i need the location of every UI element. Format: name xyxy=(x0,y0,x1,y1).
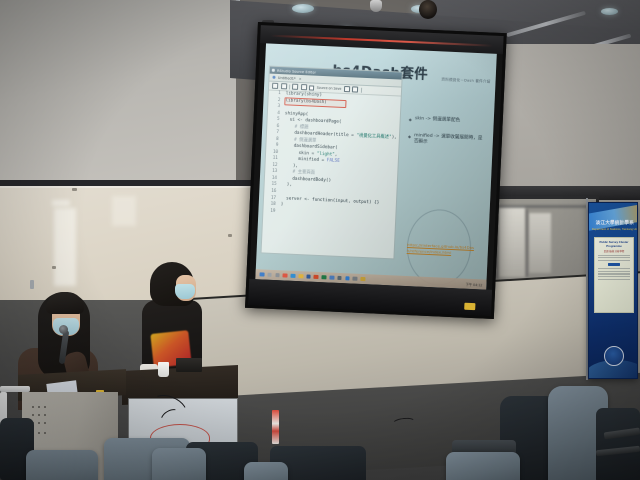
window-reflection xyxy=(499,207,525,277)
folder-icon[interactable] xyxy=(298,274,303,279)
window-frame-reflection xyxy=(526,209,528,277)
podium-vent-hole xyxy=(32,414,34,416)
podium-vent-hole xyxy=(44,432,46,434)
code-editor[interactable]: 12345678910111213141516171819 library(sh… xyxy=(262,89,401,259)
university-seal-icon xyxy=(604,346,624,366)
banner-card-title: Public Survey Cluster Programme xyxy=(595,240,633,248)
banner-card-rule xyxy=(598,279,630,280)
slide-bullet: ◆skin -> 側邊選單配色 xyxy=(409,116,488,126)
screen-pull-tab xyxy=(464,303,475,310)
projector-screen: bs4Dash套件 資料視覺化－Dash 套件介紹 RStudio Source… xyxy=(245,22,507,319)
bullet-marker-icon: ◆ xyxy=(408,134,412,145)
podium-vent-hole xyxy=(44,422,46,424)
foreground-seat xyxy=(152,448,206,480)
banner-card-rule xyxy=(598,257,630,258)
banner-card-rule xyxy=(598,268,630,269)
editor-tab-label[interactable]: Untitled1* xyxy=(278,75,296,80)
banner-heading: 淡江大學統計學系 xyxy=(592,220,634,226)
red-white-floor-stand xyxy=(272,410,279,444)
podium-vent-hole xyxy=(38,432,40,434)
banner-card-chip xyxy=(608,263,620,266)
word-icon[interactable] xyxy=(306,274,311,279)
settings-icon[interactable] xyxy=(353,276,358,281)
slide-content: bs4Dash套件 資料視覺化－Dash 套件介紹 RStudio Source… xyxy=(255,43,496,289)
ceiling-spotlight-mount xyxy=(370,0,382,12)
bullet-text: skin -> 側邊選單配色 xyxy=(415,116,460,124)
excel-icon[interactable] xyxy=(322,275,327,280)
slide-bullet: ◆minified -> 選單收闔展開時，是否顯示 xyxy=(408,133,487,149)
foreground-seat xyxy=(244,462,288,480)
edge-icon[interactable] xyxy=(291,273,296,278)
rstudio-app-icon xyxy=(272,69,275,72)
media-icon[interactable] xyxy=(337,276,342,281)
paper-cup xyxy=(158,362,169,377)
bullet-text: minified -> 選單收闔展開時，是否顯示 xyxy=(414,133,487,149)
window-reflection xyxy=(529,213,551,273)
whiteboard-mark xyxy=(52,266,56,269)
right-seat xyxy=(446,452,520,480)
seat-rail xyxy=(0,386,30,392)
toolbar-divider xyxy=(361,87,362,92)
presenter-1-fringe xyxy=(46,292,84,314)
slide-bullet-list: ◆skin -> 側邊選單配色◆minified -> 選單收闔展開時，是否顯示 xyxy=(407,116,488,160)
task-view-icon[interactable] xyxy=(275,273,280,278)
banner-card-rule xyxy=(598,260,630,261)
line-number: 19 xyxy=(263,208,275,215)
whiteboard-mark xyxy=(228,234,232,237)
powerpoint-icon[interactable] xyxy=(314,275,319,280)
bullet-marker-icon: ◆ xyxy=(409,117,412,122)
podium-vent-hole xyxy=(32,406,34,408)
banner-card-rule xyxy=(598,255,630,256)
source-on-save-checkbox[interactable] xyxy=(309,85,314,90)
department-roll-up-banner: 淡江大學統計學系 Department of Statistics, Tamka… xyxy=(588,202,638,379)
banner-card-rule xyxy=(598,271,630,272)
podium-vent-hole xyxy=(44,406,46,408)
ceiling-light xyxy=(601,8,618,15)
taskbar-clock: 下午 04:12 xyxy=(466,281,483,287)
banner-info-card: Public Survey Cluster Programme 民調 抽樣 分析… xyxy=(594,237,634,313)
close-icon[interactable]: × xyxy=(299,76,302,80)
banner-card-rule xyxy=(598,276,630,277)
r-studio-icon[interactable] xyxy=(329,275,334,280)
projected-slide: bs4Dash套件 資料視覺化－Dash 套件介紹 RStudio Source… xyxy=(255,43,496,289)
podium-vent-hole xyxy=(44,414,46,416)
podium-vent-hole xyxy=(38,406,40,408)
notes-icon[interactable] xyxy=(361,277,366,282)
windows-start-icon[interactable] xyxy=(259,272,264,277)
whiteboard-mark xyxy=(30,280,34,289)
presenter-2-face-mask xyxy=(175,284,195,299)
code-lines[interactable]: library(shiny)library(bs4Dash) shinyApp(… xyxy=(276,89,401,258)
rstudio-window[interactable]: RStudio Source Editor Untitled1* × xyxy=(261,66,403,260)
banner-card-rule xyxy=(598,273,630,274)
search-icon[interactable] xyxy=(267,272,272,277)
podium-vent-hole xyxy=(38,414,40,416)
chrome-icon[interactable] xyxy=(283,273,288,278)
whiteboard-glare xyxy=(52,200,70,206)
mail-icon[interactable] xyxy=(345,276,350,281)
banner-subheading: Department of Statistics, Tamkang Univer… xyxy=(592,228,634,231)
podium-vent-hole xyxy=(38,422,40,424)
whiteboard-mark xyxy=(72,188,77,191)
banner-card-subtitle: 民調 抽樣 分析學程 xyxy=(595,249,633,253)
whiteboard-glare xyxy=(54,208,76,286)
foreground-seat xyxy=(26,450,98,480)
whiteboard-glare xyxy=(112,196,136,226)
av-equipment-box xyxy=(176,358,202,372)
right-seat xyxy=(596,408,640,480)
r-script-icon xyxy=(272,76,276,80)
toolbar-divider xyxy=(289,84,290,89)
ceiling-light xyxy=(292,4,314,13)
lecture-hall-photo: bs4Dash套件 資料視覺化－Dash 套件介紹 RStudio Source… xyxy=(0,0,640,480)
ceiling-spotlight-head xyxy=(419,0,437,19)
microphone-head xyxy=(59,325,68,334)
